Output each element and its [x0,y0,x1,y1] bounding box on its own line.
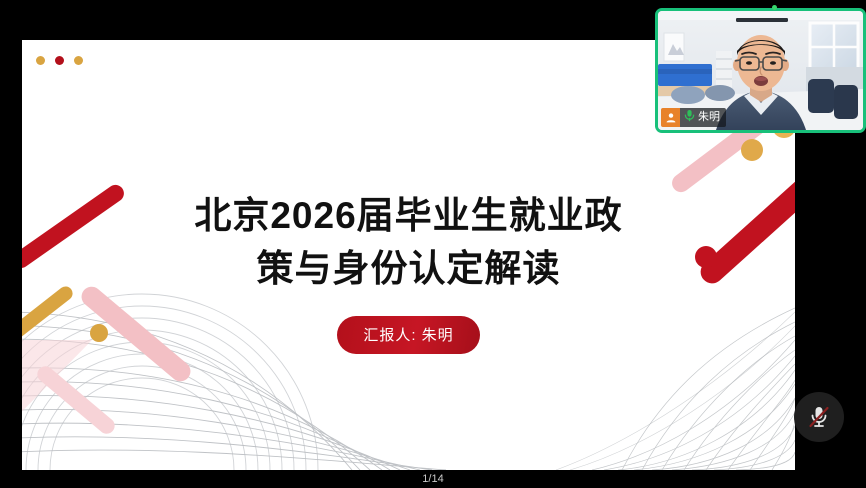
meeting-screen-share-view: 北京2026届毕业生就业政 策与身份认定解读 汇报人: 朱明 1/14 [0,0,866,488]
microphone-active-icon [684,109,695,127]
slide-window-dots [36,56,83,65]
slide-title: 北京2026届毕业生就业政 策与身份认定解读 [22,190,795,295]
microphone-muted-icon [805,403,833,431]
slide-page-indicator: 1/14 [0,473,866,485]
participant-video-tile[interactable]: 朱明 [655,8,866,133]
mute-microphone-button[interactable] [794,392,844,442]
nameplate-body: 朱明 [680,108,726,127]
presenter-badge-container: 汇报人: 朱明 [22,316,795,354]
dot-gold-right [74,56,83,65]
participant-name: 朱明 [698,112,720,123]
recording-indicator-dot [772,5,777,10]
participant-nameplate: 朱明 [661,108,726,127]
slide-title-line-2: 策与身份认定解读 [22,243,795,296]
slide-title-line-1: 北京2026届毕业生就业政 [22,190,795,243]
person-icon [661,108,680,127]
dot-red-center [55,56,64,65]
presenter-badge: 汇报人: 朱明 [337,316,479,354]
dot-gold-left [36,56,45,65]
